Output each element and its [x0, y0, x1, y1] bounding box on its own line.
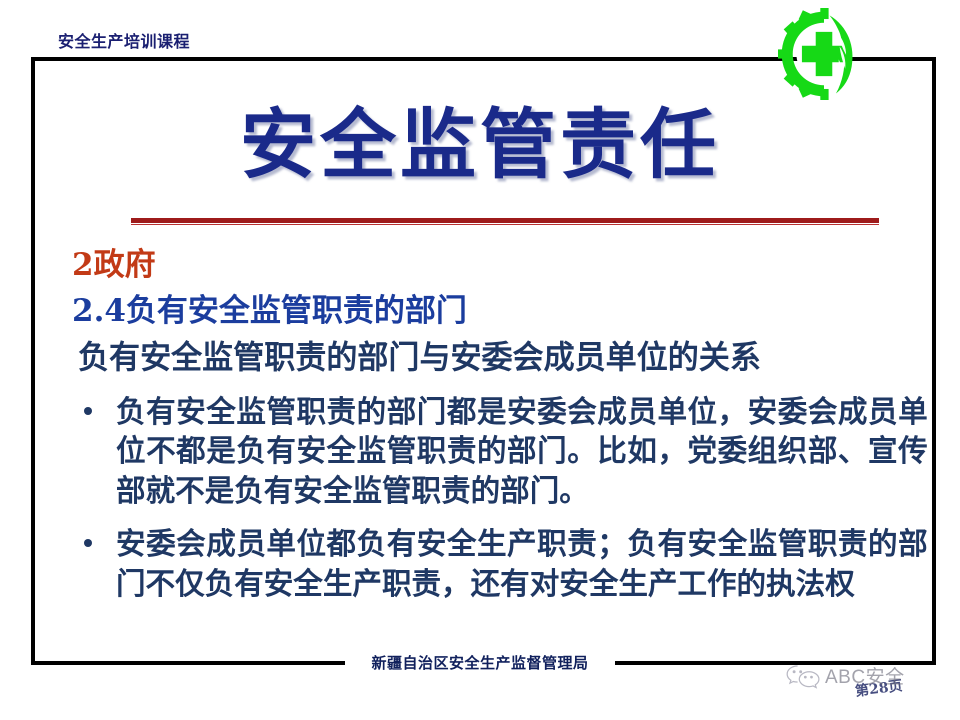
- list-item: 负有安全监管职责的部门都是安委会成员单位，安委会成员单位不都是负有安全监管职责的…: [60, 393, 940, 512]
- wechat-watermark: ABC安全: [786, 662, 905, 689]
- topic-heading: 负有安全监管职责的部门与安委会成员单位的关系: [78, 337, 914, 379]
- slide-body: 2政府 2.4负有安全监管职责的部门 负有安全监管职责的部门与安委会成员单位的关…: [60, 246, 940, 619]
- list-item-text: 安委会成员单位都负有安全生产职责；负有安全监管职责的部门不仅负有安全生产职责，还…: [116, 525, 928, 604]
- section-number-heading: 2政府: [72, 246, 940, 285]
- subsection-heading: 2.4负有安全监管职责的部门: [72, 291, 940, 331]
- safety-production-emblem-logo: [778, 8, 870, 100]
- list-item: 安委会成员单位都负有安全生产职责；负有安全监管职责的部门不仅负有安全生产职责，还…: [60, 525, 940, 604]
- bullet-dot-icon: [60, 525, 116, 547]
- header-course-title: 安全生产培训课程: [58, 28, 190, 52]
- bullet-list: 负有安全监管职责的部门都是安委会成员单位，安委会成员单位不都是负有安全监管职责的…: [60, 393, 940, 605]
- slide-main-title: 安全监管责任: [0, 105, 960, 185]
- bullet-dot-icon: [60, 393, 116, 415]
- watermark-label: ABC安全: [825, 662, 905, 689]
- title-divider-rule: [131, 218, 879, 225]
- wechat-icon: [786, 663, 820, 689]
- presentation-slide: 安全生产培训课程: [0, 0, 960, 720]
- list-item-text: 负有安全监管职责的部门都是安委会成员单位，安委会成员单位不都是负有安全监管职责的…: [116, 393, 928, 512]
